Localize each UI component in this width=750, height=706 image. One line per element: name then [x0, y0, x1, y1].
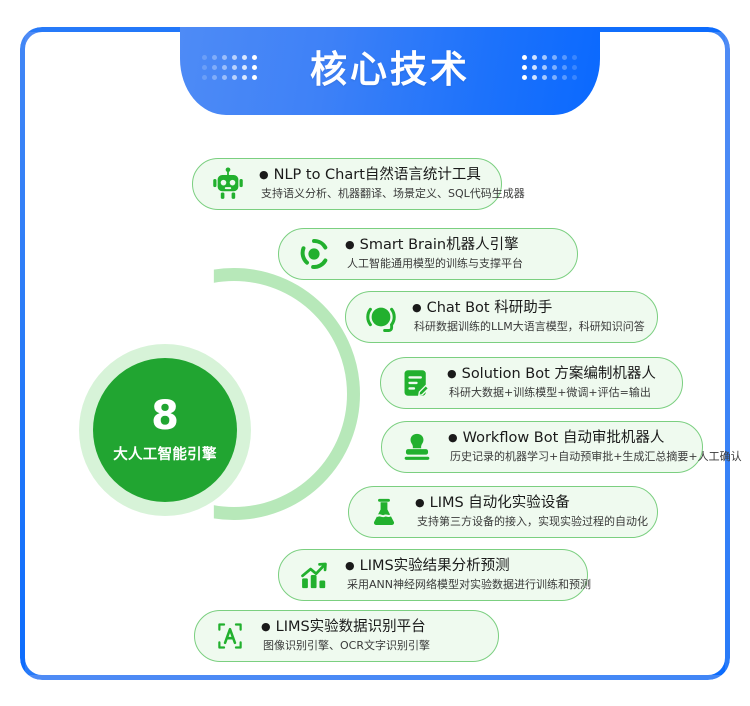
feature-title-6: ●LIMS 自动化实验设备 [415, 494, 648, 512]
page-title: 核心技术 [180, 27, 600, 105]
poster-canvas: 核心技术 8 大人工智能引擎 ●NLP to Chart自然语言统计工具 [0, 0, 750, 706]
smart-brain-icon [293, 233, 335, 275]
bullet-icon: ● [447, 367, 457, 380]
feature-subtitle-8: 图像识别引擎、OCR文字识别引擎 [261, 638, 430, 654]
feature-title-8: ●LIMS实验数据识别平台 [261, 618, 430, 636]
flask-icon [363, 491, 405, 533]
bullet-icon: ● [259, 168, 269, 181]
feature-subtitle-7: 采用ANN神经网络模型对实验数据进行训练和预测 [345, 577, 591, 593]
feature-text-3: ●Chat Bot 科研助手 科研数据训练的LLM大语言模型，科研知识问答 [408, 299, 645, 335]
feature-text-4: ●Solution Bot 方案编制机器人 科研大数据+训练模型+微调+评估=输… [443, 365, 656, 401]
feature-row-1[interactable]: ●NLP to Chart自然语言统计工具 支持语义分析、机器翻译、场景定义、S… [192, 158, 502, 210]
feature-row-7[interactable]: ●LIMS实验结果分析预测 采用ANN神经网络模型对实验数据进行训练和预测 [278, 549, 588, 601]
bullet-icon: ● [345, 559, 355, 572]
document-edit-icon [395, 362, 437, 404]
feature-title-7: ●LIMS实验结果分析预测 [345, 557, 591, 575]
feature-subtitle-1: 支持语义分析、机器翻译、场景定义、SQL代码生成器 [259, 186, 525, 202]
bullet-icon: ● [415, 496, 425, 509]
feature-row-2[interactable]: ●Smart Brain机器人引擎 人工智能通用模型的训练与支撑平台 [278, 228, 578, 280]
feature-title-1: ●NLP to Chart自然语言统计工具 [259, 166, 525, 184]
feature-text-6: ●LIMS 自动化实验设备 支持第三方设备的接入，实现实验过程的自动化 [411, 494, 648, 530]
feature-row-8[interactable]: ●LIMS实验数据识别平台 图像识别引擎、OCR文字识别引擎 [194, 610, 499, 662]
headset-icon [360, 296, 402, 338]
feature-text-2: ●Smart Brain机器人引擎 人工智能通用模型的训练与支撑平台 [341, 236, 523, 272]
header-banner: 核心技术 [180, 27, 600, 115]
feature-subtitle-4: 科研大数据+训练模型+微调+评估=输出 [447, 385, 656, 401]
engine-count-badge: 8 大人工智能引擎 [93, 358, 237, 502]
bar-chart-trend-icon [293, 554, 335, 596]
feature-text-5: ●Workflow Bot 自动审批机器人 历史记录的机器学习+自动预审批+生成… [444, 429, 742, 465]
bullet-icon: ● [261, 620, 271, 633]
stamp-icon [396, 426, 438, 468]
feature-title-5: ●Workflow Bot 自动审批机器人 [448, 429, 742, 447]
bullet-icon: ● [448, 431, 458, 444]
feature-row-5[interactable]: ●Workflow Bot 自动审批机器人 历史记录的机器学习+自动预审批+生成… [381, 421, 703, 473]
feature-text-7: ●LIMS实验结果分析预测 采用ANN神经网络模型对实验数据进行训练和预测 [341, 557, 591, 593]
badge-label: 大人工智能引擎 [113, 443, 217, 464]
badge-number: 8 [151, 396, 179, 436]
feature-title-4: ●Solution Bot 方案编制机器人 [447, 365, 656, 383]
text-recognition-icon [209, 615, 251, 657]
feature-row-3[interactable]: ●Chat Bot 科研助手 科研数据训练的LLM大语言模型，科研知识问答 [345, 291, 658, 343]
feature-subtitle-6: 支持第三方设备的接入，实现实验过程的自动化 [415, 514, 648, 530]
feature-subtitle-3: 科研数据训练的LLM大语言模型，科研知识问答 [412, 319, 645, 335]
feature-title-2: ●Smart Brain机器人引擎 [345, 236, 523, 254]
feature-subtitle-2: 人工智能通用模型的训练与支撑平台 [345, 256, 523, 272]
feature-subtitle-5: 历史记录的机器学习+自动预审批+生成汇总摘要+人工确认 [448, 449, 742, 465]
feature-text-1: ●NLP to Chart自然语言统计工具 支持语义分析、机器翻译、场景定义、S… [255, 166, 525, 202]
feature-row-6[interactable]: ●LIMS 自动化实验设备 支持第三方设备的接入，实现实验过程的自动化 [348, 486, 658, 538]
feature-title-3: ●Chat Bot 科研助手 [412, 299, 645, 317]
robot-icon [207, 163, 249, 205]
feature-row-4[interactable]: ●Solution Bot 方案编制机器人 科研大数据+训练模型+微调+评估=输… [380, 357, 683, 409]
bullet-icon: ● [412, 301, 422, 314]
feature-text-8: ●LIMS实验数据识别平台 图像识别引擎、OCR文字识别引擎 [257, 618, 430, 654]
bullet-icon: ● [345, 238, 355, 251]
